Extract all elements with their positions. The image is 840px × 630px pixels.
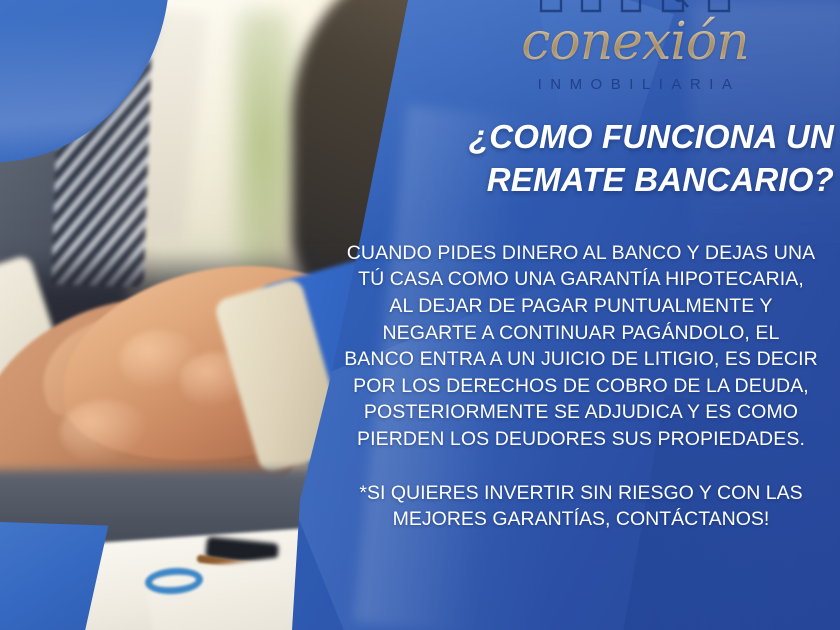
call-to-action: *SI QUIERES INVERTIR SIN RIESGO Y CON LA… xyxy=(322,480,840,533)
body-line: BANCO ENTRA A UN JUICIO DE LITIGIO, ES D… xyxy=(322,346,840,373)
brand-logo: conexión INMOBILIARIA xyxy=(430,0,840,105)
headline-line-1: ¿COMO FUNCIONA UN xyxy=(469,118,834,155)
knuckle-highlight xyxy=(60,400,150,464)
brand-script-name: conexión xyxy=(430,16,840,68)
body-line: NEGARTE A CONTINUAR PAGÁNDOLO, EL xyxy=(322,320,840,347)
cta-line: *SI QUIERES INVERTIR SIN RIESGO Y CON LA… xyxy=(322,480,840,507)
headline-line-2: REMATE BANCARIO? xyxy=(322,159,834,202)
body-line: CUANDO PIDES DINERO AL BANCO Y DEJAS UNA xyxy=(322,240,840,267)
body-line: TÚ CASA COMO UNA GARANTÍA HIPOTECARIA, xyxy=(322,266,840,293)
body-line: PIERDEN LOS DEUDORES SUS PROPIEDADES. xyxy=(322,426,840,453)
cta-line: MEJORES GARANTÍAS, CONTÁCTANOS! xyxy=(322,506,840,533)
text-content: ¿COMO FUNCIONA UN REMATE BANCARIO? CUAND… xyxy=(322,116,840,533)
body-line: POSTERIORMENTE SE ADJUDICA Y ES COMO xyxy=(322,399,840,426)
body-line: AL DEJAR DE PAGAR PUNTUALMENTE Y xyxy=(322,293,840,320)
brand-subtitle: INMOBILIARIA xyxy=(430,76,840,93)
body-line: POR LOS DERECHOS DE COBRO DE LA DEUDA, xyxy=(322,373,840,400)
headline: ¿COMO FUNCIONA UN REMATE BANCARIO? xyxy=(322,116,840,202)
promotional-flyer: conexión INMOBILIARIA ¿COMO FUNCIONA UN … xyxy=(0,0,840,630)
body-paragraph: CUANDO PIDES DINERO AL BANCO Y DEJAS UNA… xyxy=(322,240,840,453)
